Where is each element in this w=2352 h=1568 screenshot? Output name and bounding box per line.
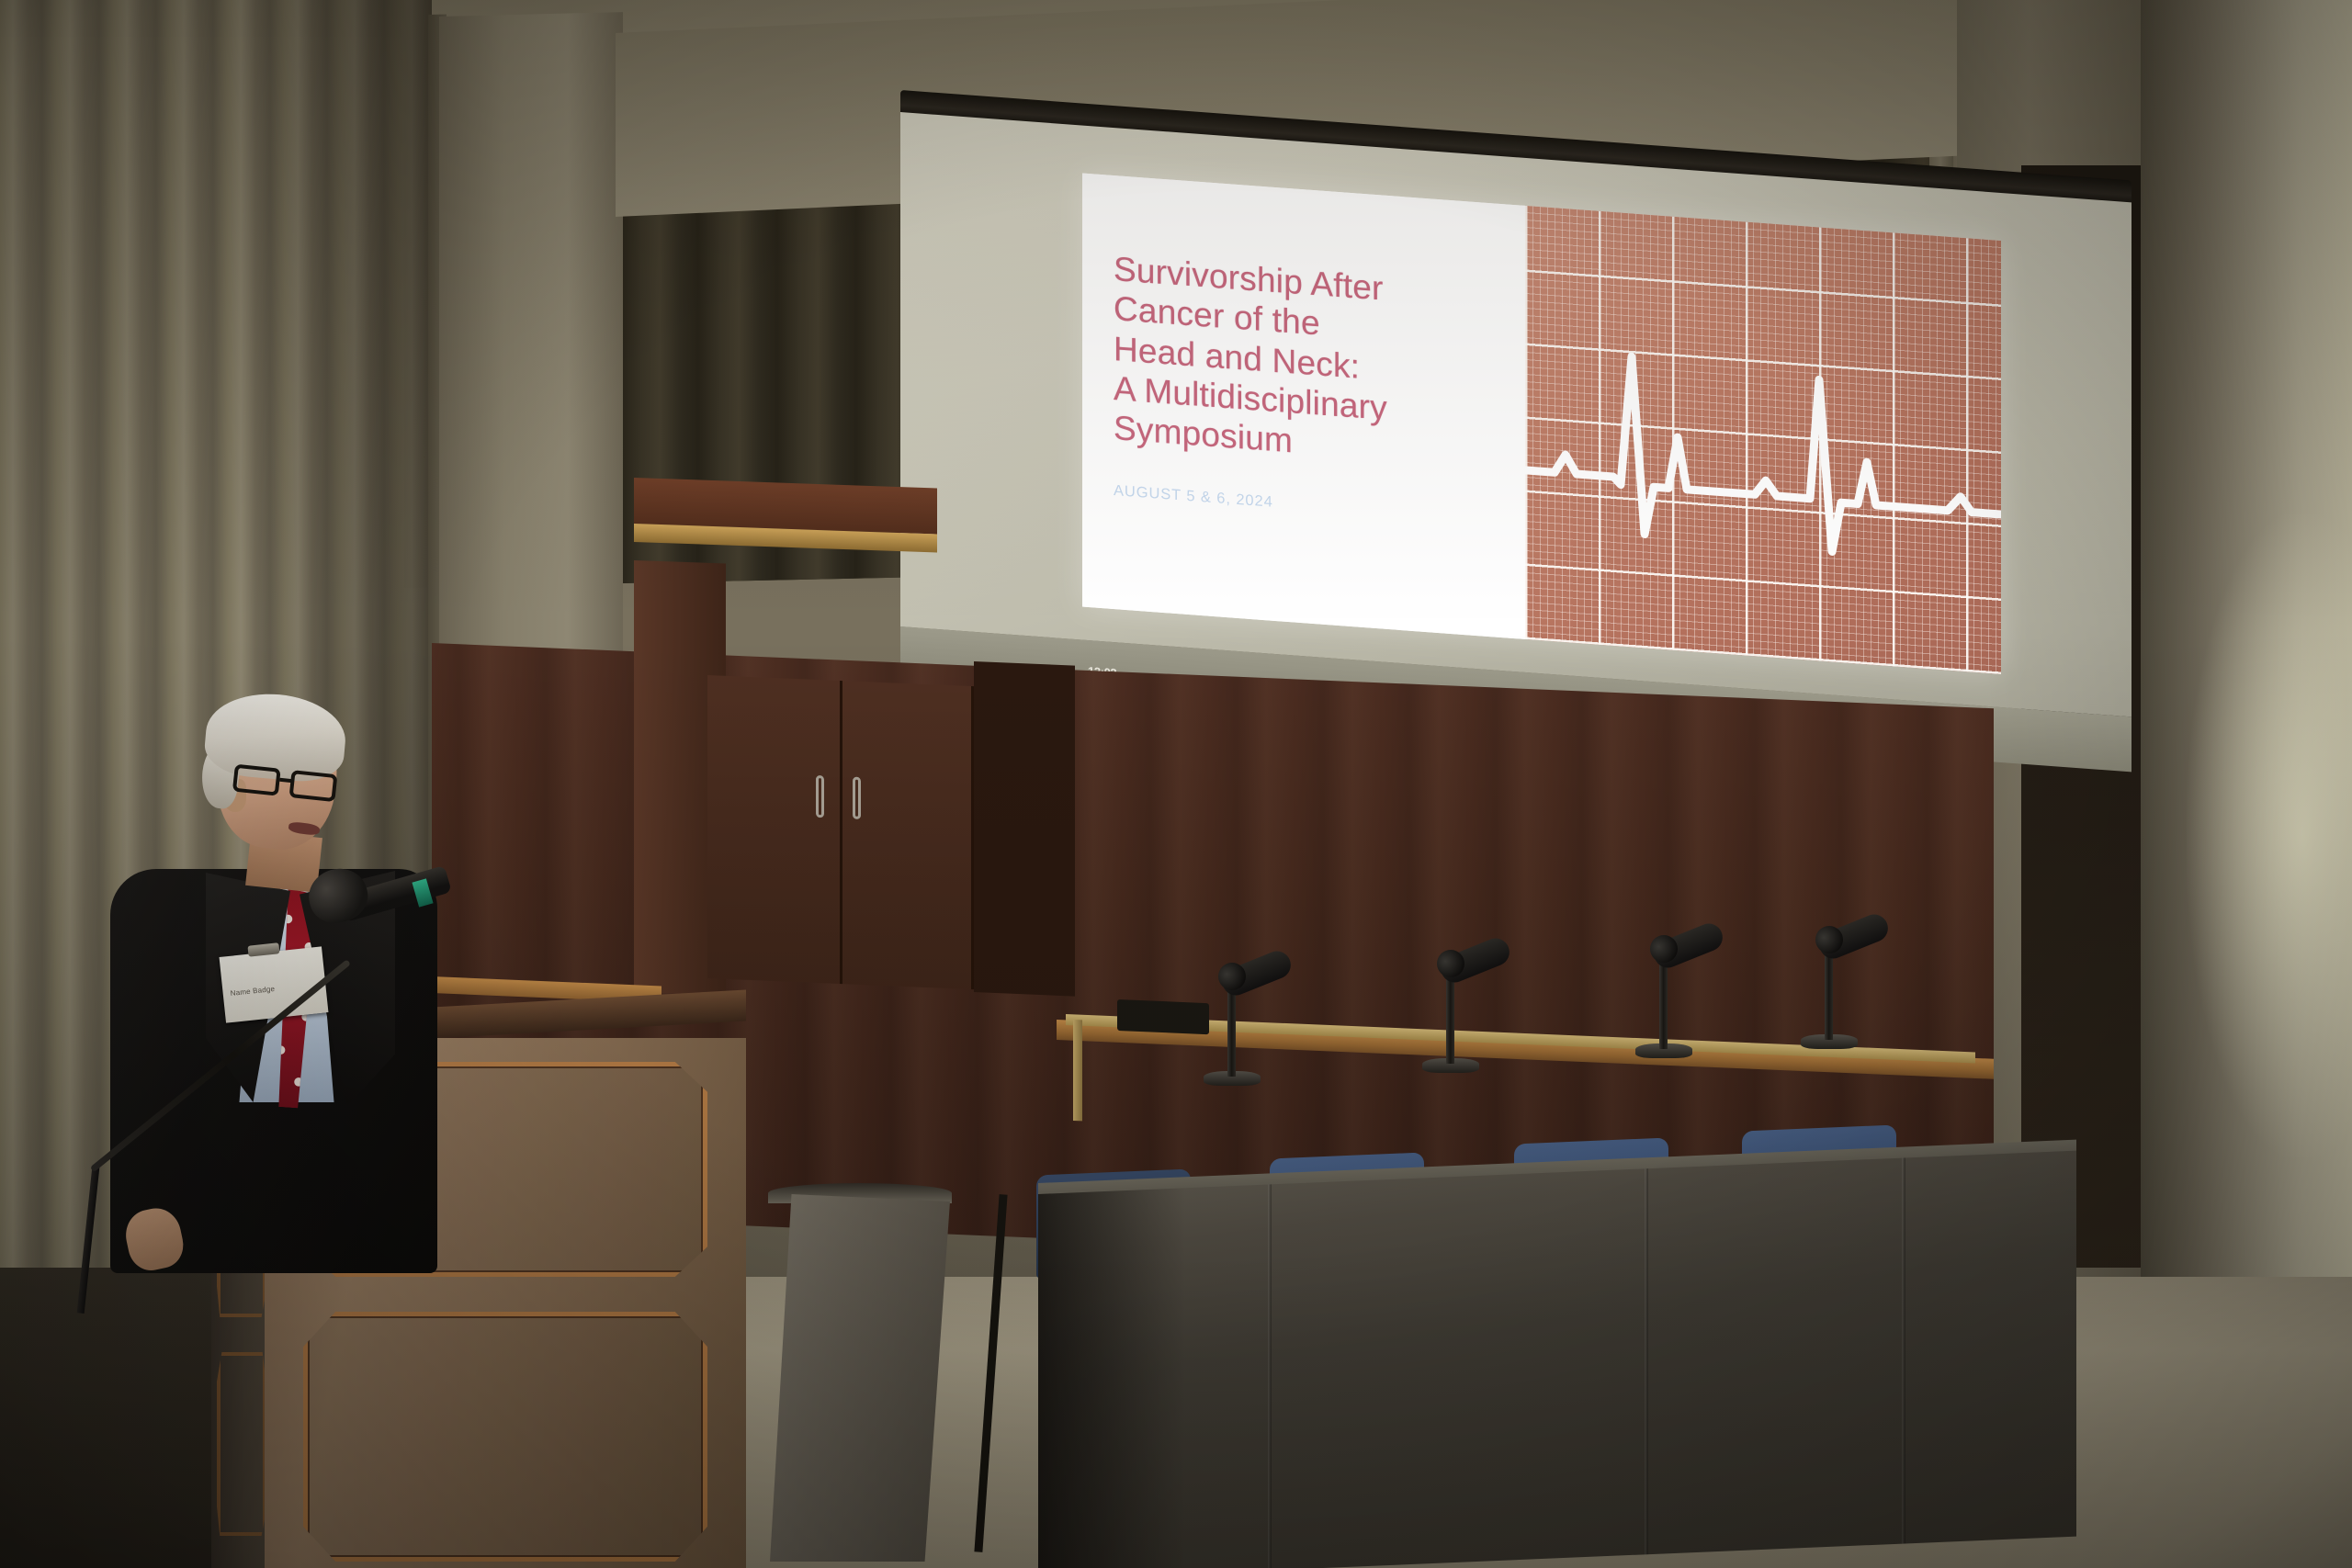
- presentation-room-scene: Survivorship After Cancer of the Head an…: [0, 0, 2352, 1568]
- tablecloth-fold: [1645, 1168, 1648, 1554]
- tablecloth-fold: [1268, 1184, 1272, 1568]
- lens-left: [232, 764, 281, 796]
- projected-slide: Survivorship After Cancer of the Head an…: [1082, 174, 2001, 674]
- table-shadow: [1038, 1188, 1185, 1568]
- draped-side-table: [770, 1194, 950, 1562]
- ecg-waveform-icon: [1525, 206, 2001, 674]
- projection-screen[interactable]: Survivorship After Cancer of the Head an…: [900, 112, 2131, 716]
- panel-table: [1038, 1151, 2076, 1568]
- cabinet-handle-icon[interactable]: [816, 775, 824, 818]
- lens-right: [289, 770, 338, 802]
- podium-panel-recess: [217, 1352, 266, 1536]
- podium-microphone[interactable]: [92, 863, 533, 1286]
- tablecloth-fold: [1902, 1157, 1905, 1543]
- av-device-box: [1117, 999, 1209, 1034]
- mic-pole: [1446, 979, 1454, 1064]
- wood-column-dark: [974, 661, 1075, 997]
- mic-boom-arm: [90, 959, 351, 1172]
- wall-cabinet[interactable]: [707, 675, 974, 989]
- mic-pole: [1825, 955, 1833, 1040]
- podium-panel-recess: [303, 1312, 707, 1562]
- cabinet-door-split: [840, 681, 842, 984]
- slide-text-panel: Survivorship After Cancer of the Head an…: [1082, 174, 1525, 639]
- slide-ecg-panel: [1525, 206, 2001, 674]
- mic-pole: [1227, 992, 1236, 1077]
- ambient-light-glow: [2187, 514, 2352, 1157]
- slide-date: AUGUST 5 & 6, 2024: [1114, 482, 1525, 530]
- mic-capsule-icon: [302, 862, 374, 929]
- slide-title: Survivorship After Cancer of the Head an…: [1114, 249, 1525, 478]
- brass-rail-post: [1073, 1020, 1082, 1121]
- cabinet-handle-icon[interactable]: [853, 777, 861, 819]
- mic-pole: [1659, 964, 1668, 1049]
